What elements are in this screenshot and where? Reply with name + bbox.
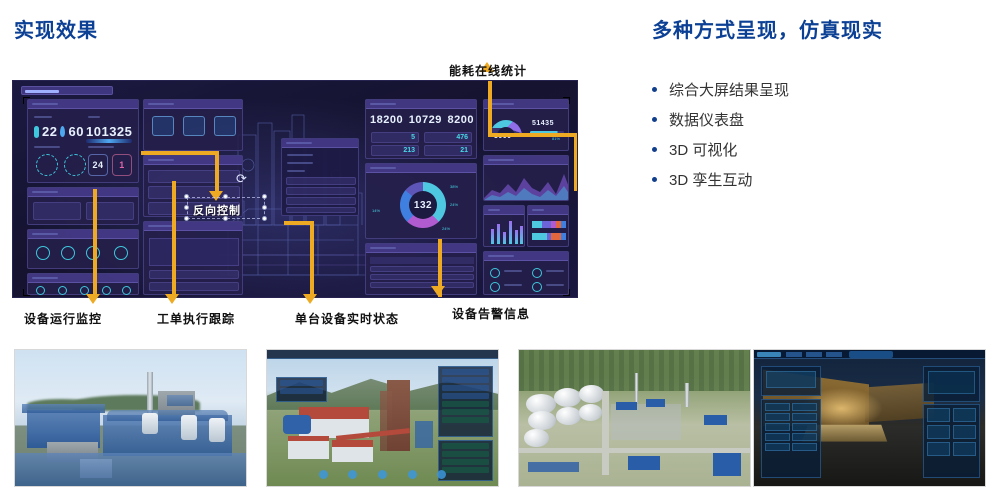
plant-tank — [209, 418, 225, 442]
annotation-line-realtime-h — [284, 221, 314, 225]
factory-equipment — [415, 421, 433, 448]
storage-tank — [524, 429, 549, 447]
hud-tooltip-left[interactable] — [276, 377, 327, 401]
gallery-image-3d-chemical-plant[interactable] — [14, 349, 247, 487]
toolbar-icon[interactable] — [378, 470, 387, 479]
device-icon[interactable] — [58, 286, 67, 295]
hud-cell[interactable] — [765, 403, 790, 411]
list-item[interactable] — [33, 202, 81, 220]
callout-workorder-tracking: 工单执行跟踪 — [157, 310, 235, 327]
panel-title-bar — [28, 100, 138, 109]
metric-offline: 1 — [112, 154, 132, 176]
process-unit — [528, 462, 579, 473]
list-item: 数据仪表盘 — [652, 104, 982, 134]
dashboard-header-title — [25, 90, 59, 93]
panel-title-bar — [28, 188, 138, 197]
hud-row[interactable] — [442, 385, 489, 391]
panel-title-bar — [144, 100, 242, 109]
kpi-card[interactable]: 213 — [371, 145, 419, 156]
corner-bracket — [23, 97, 30, 104]
annotation-arrow-alarm — [431, 286, 445, 296]
hud-topbar[interactable] — [267, 350, 498, 359]
preheater-tower — [380, 391, 392, 451]
toolbar-icon[interactable] — [437, 470, 446, 479]
table-row[interactable] — [286, 207, 356, 213]
panel-title-text — [488, 209, 500, 211]
device-icon[interactable] — [36, 246, 50, 260]
panel-title-text — [32, 277, 58, 279]
annotation-line-energy-v — [488, 80, 492, 137]
section-label — [88, 146, 114, 148]
site-road — [519, 448, 750, 453]
metric-label — [34, 116, 52, 118]
stat-card[interactable] — [152, 116, 174, 136]
device-icon[interactable] — [102, 286, 111, 295]
metric-label — [88, 116, 100, 118]
hud-logo[interactable] — [757, 352, 781, 357]
status-icon — [532, 268, 542, 278]
corner-bracket — [563, 289, 570, 296]
hud-title — [849, 351, 893, 358]
hud-panel-top-left[interactable] — [761, 366, 821, 396]
table-header — [370, 257, 474, 264]
bullet-icon — [652, 87, 657, 92]
gallery-image-3d-refinery-aerial[interactable] — [518, 349, 751, 487]
kpi-card[interactable]: 21 — [424, 145, 472, 156]
flare-stack — [635, 373, 638, 403]
hud-menu-item[interactable] — [826, 352, 842, 357]
donut-legend-item: 24% — [450, 202, 458, 207]
readout-value: 51435 — [532, 120, 554, 127]
office-roof — [288, 436, 330, 441]
status-label — [504, 270, 522, 272]
callout-single-device-status: 单台设备实时状态 — [295, 310, 399, 327]
stat-card[interactable] — [183, 116, 205, 136]
table-row[interactable] — [370, 266, 474, 272]
panel-title-bar — [28, 230, 138, 239]
feature-list: 综合大屏结果呈现 数据仪表盘 3D 可视化 3D 孪生互动 — [652, 74, 982, 194]
panel-title-text — [370, 247, 396, 249]
hud-cell[interactable] — [792, 443, 817, 451]
status-icon — [490, 268, 500, 278]
panel-title-bar — [144, 156, 242, 165]
refresh-icon[interactable]: ⟳ — [236, 171, 247, 187]
donut-legend-item: 14% — [372, 208, 380, 213]
bullet-icon — [652, 117, 657, 122]
toolbar-icon[interactable] — [348, 470, 357, 479]
site-road — [602, 391, 609, 475]
list-item-label: 数据仪表盘 — [669, 109, 744, 130]
camera-tile[interactable] — [953, 408, 976, 422]
field-row — [287, 170, 305, 172]
list-item: 3D 可视化 — [652, 134, 982, 164]
table-row[interactable] — [370, 282, 474, 288]
plant-tank — [142, 413, 158, 435]
camera-tile[interactable] — [927, 425, 950, 439]
hud-row[interactable] — [280, 380, 323, 386]
metric-temperature: 22 60 — [34, 124, 84, 139]
status-icon — [532, 282, 542, 292]
table-row[interactable] — [149, 282, 239, 291]
annotation-line-realtime — [310, 221, 314, 298]
list-item: 3D 孪生互动 — [652, 164, 982, 194]
panel-workorder-cards[interactable] — [143, 99, 243, 151]
panel-device-matrix[interactable] — [143, 221, 243, 295]
gauge-noise-icon — [64, 154, 86, 176]
hud-metric[interactable] — [442, 451, 489, 457]
hud-panel-minimap[interactable] — [923, 366, 981, 401]
callout-device-alarm: 设备告警信息 — [452, 305, 530, 322]
annotation-arrow-workorder — [165, 294, 179, 304]
annotation-line-workorder — [172, 181, 176, 298]
selection-handle[interactable] — [262, 205, 267, 210]
list-item: 综合大屏结果呈现 — [652, 74, 982, 104]
hud-topbar[interactable] — [754, 350, 985, 359]
panel-title-text — [286, 142, 312, 144]
kpi-row: 18200 10729 8200 — [370, 114, 474, 126]
device-icon[interactable] — [61, 246, 75, 260]
hud-row[interactable] — [442, 377, 489, 383]
metric-online: 24 — [88, 154, 108, 176]
stacked-bar — [532, 221, 566, 228]
camera-tile[interactable] — [953, 442, 976, 456]
panel-title-text — [148, 103, 174, 105]
hud-panel-right[interactable] — [438, 366, 493, 437]
selection-handle[interactable] — [184, 216, 189, 221]
status-label — [504, 284, 522, 286]
hud-cell[interactable] — [792, 433, 817, 441]
process-unit — [704, 415, 727, 425]
dashboard-screenshot: 22 60 101325 24 1 — [12, 80, 578, 298]
panel-environment[interactable]: 22 60 101325 24 1 — [27, 99, 139, 183]
panel-device-list-c[interactable] — [27, 273, 139, 295]
office-building — [332, 445, 374, 461]
annotation-line-energy-h — [488, 133, 578, 137]
panel-title-text — [32, 103, 58, 105]
kpi-total-energy: 10729 — [409, 114, 442, 126]
hud-cell[interactable] — [765, 413, 790, 421]
selection-handle[interactable] — [262, 216, 267, 221]
bullet-icon — [652, 177, 657, 182]
status-label — [546, 284, 564, 286]
list-item-label: 综合大屏结果呈现 — [669, 79, 789, 100]
table-row[interactable] — [148, 170, 240, 183]
panel-title-text — [370, 167, 396, 169]
status-icon — [490, 282, 500, 292]
table-row[interactable] — [286, 187, 356, 195]
gauge-dust-icon — [36, 154, 58, 176]
kpi-total-hours: 8200 — [448, 114, 474, 126]
process-unit — [713, 452, 741, 476]
metric-value: 60 — [68, 124, 83, 139]
camera-grid — [927, 408, 977, 456]
kpi-value: 21 — [460, 147, 468, 154]
panel-equipment-status-list[interactable] — [483, 251, 569, 295]
hud-row[interactable] — [442, 409, 489, 415]
hud-row[interactable] — [280, 388, 323, 394]
panel-title-text — [488, 255, 514, 257]
list-item-label: 3D 孪生互动 — [669, 169, 752, 190]
camera-tile[interactable] — [953, 425, 976, 439]
factory-equipment — [283, 415, 311, 434]
pressure-bar — [86, 139, 132, 143]
selection-handle[interactable] — [223, 194, 228, 199]
dashboard-header — [21, 86, 113, 95]
hud-cell[interactable] — [792, 413, 817, 421]
process-unit — [628, 456, 660, 470]
panel-title-text — [532, 209, 544, 211]
table-row[interactable] — [149, 270, 239, 279]
toolbar-icon[interactable] — [408, 470, 417, 479]
bullet-icon — [652, 147, 657, 152]
hud-cell[interactable] — [765, 423, 790, 431]
storage-tank — [556, 407, 581, 425]
kpi-value: 213 — [403, 147, 415, 154]
callout-energy-online: 能耗在线统计 — [449, 62, 527, 79]
donut-center: 132 — [400, 182, 446, 228]
inline-callout-label: 反向控制 — [193, 202, 241, 218]
panel-title-bar — [484, 100, 568, 109]
panel-title-bar — [28, 274, 138, 283]
office-roof — [332, 440, 374, 447]
camera-tile[interactable] — [927, 442, 950, 456]
kpi-value: 476 — [456, 134, 468, 141]
hud-panel-left-list[interactable] — [761, 399, 821, 478]
hud-row[interactable] — [442, 393, 489, 399]
hud-metric[interactable] — [442, 443, 489, 449]
plant-building — [167, 395, 192, 406]
status-label — [546, 270, 564, 272]
metric-value: 22 — [42, 124, 57, 139]
floating-device-card[interactable] — [281, 138, 359, 216]
panel-title-bar — [528, 206, 568, 215]
hud-cell[interactable] — [765, 443, 790, 451]
panel-title-bar — [484, 252, 568, 261]
page-title-right: 多种方式呈现，仿真现实 — [652, 14, 883, 43]
hud-metric[interactable] — [442, 459, 489, 465]
panel-category-energy-bars[interactable] — [527, 205, 569, 247]
floating-card-title — [282, 139, 358, 148]
bar-chart — [490, 220, 524, 244]
annotation-line-reverse-h — [141, 151, 219, 155]
list-item-label: 3D 可视化 — [669, 139, 737, 160]
hud-cell[interactable] — [792, 403, 817, 411]
donut-legend-item: 24% — [442, 226, 450, 231]
donut-legend-item: 38% — [450, 184, 458, 189]
toolbar-icon[interactable] — [319, 470, 328, 479]
hud-cell[interactable] — [792, 423, 817, 431]
slide-root: 实现效果 多种方式呈现，仿真现实 综合大屏结果呈现 数据仪表盘 3D 可视化 3… — [0, 0, 1000, 498]
office-building — [288, 440, 330, 459]
metric-value: 24 — [92, 160, 103, 170]
table-row[interactable] — [286, 177, 356, 185]
kpi-total-output: 18200 — [370, 114, 403, 126]
section-label — [34, 146, 60, 148]
callout-device-monitor: 设备运行监控 — [24, 310, 102, 327]
panel-title-text — [148, 159, 174, 161]
panel-title-bar — [484, 156, 568, 165]
field-row — [287, 162, 313, 164]
device-icon[interactable] — [36, 286, 45, 295]
flare-stack — [685, 383, 689, 407]
gallery-image-3d-cement-plant[interactable] — [266, 349, 499, 487]
hud-row[interactable] — [442, 369, 489, 375]
hud-menu-item[interactable] — [806, 352, 822, 357]
hud-row[interactable] — [442, 401, 489, 407]
plant-structure — [22, 404, 105, 412]
panel-energy-gauge[interactable]: 3000 51435 81% — [483, 99, 569, 151]
process-unit — [646, 399, 664, 407]
panel-title-bar — [366, 244, 476, 253]
panel-device-list-a[interactable] — [27, 187, 139, 225]
kpi-card[interactable]: 476 — [424, 132, 472, 143]
hud-cell[interactable] — [765, 433, 790, 441]
panel-title-bar — [144, 222, 242, 231]
panel-workorder-table[interactable] — [365, 243, 477, 295]
hud-grid — [765, 403, 817, 451]
annotation-line-reverse-v — [215, 151, 219, 193]
selection-handle[interactable] — [184, 194, 189, 199]
stacked-bar — [532, 233, 566, 240]
donut-center-value: 132 — [414, 200, 432, 211]
panel-device-energy-bars[interactable] — [483, 205, 525, 247]
field-row — [287, 154, 313, 156]
panel-title-text — [488, 159, 514, 161]
panel-title-text — [148, 225, 174, 227]
kpi-card[interactable]: 5 — [371, 132, 419, 143]
selection-handle[interactable] — [184, 205, 189, 210]
hud-row[interactable] — [442, 417, 489, 423]
kpi-value: 5 — [411, 134, 415, 141]
device-icon[interactable] — [114, 246, 128, 260]
hud-chart — [766, 371, 816, 388]
panel-title-text — [370, 103, 396, 105]
plant-foreground — [15, 453, 246, 486]
matrix-grid — [149, 238, 239, 266]
annotation-line-energy-v2 — [574, 133, 578, 191]
stat-card[interactable] — [214, 116, 236, 136]
selection-handle[interactable] — [223, 216, 228, 221]
panel-device-distribution[interactable]: 132 38% 24% 24% 14% — [365, 163, 477, 239]
process-unit — [616, 402, 637, 410]
gallery-image-3d-night-warehouse[interactable] — [753, 349, 986, 487]
hud-bottom-toolbar[interactable] — [309, 467, 457, 482]
minimap[interactable] — [928, 371, 976, 394]
thermometer-icon — [34, 126, 39, 138]
hud-menu-item[interactable] — [786, 352, 802, 357]
table-row[interactable] — [370, 274, 474, 280]
camera-tile[interactable] — [927, 408, 950, 422]
panel-energy-trend[interactable] — [483, 155, 569, 201]
storage-tank — [579, 404, 602, 420]
plant-tank — [181, 415, 197, 439]
panel-title-text — [32, 233, 58, 235]
corner-bracket — [563, 97, 570, 104]
panel-device-list-b[interactable] — [27, 229, 139, 269]
metric-value: 1 — [119, 160, 125, 170]
annotation-line-device-monitor — [93, 189, 97, 298]
panel-title-bar — [366, 164, 476, 173]
annotation-arrow-device-monitor — [86, 294, 100, 304]
metric-pressure-value: 101325 — [86, 124, 132, 139]
humidity-icon — [60, 126, 65, 137]
panel-title-text — [32, 191, 58, 193]
panel-production-overview[interactable]: 18200 10729 8200 5 476 213 21 — [365, 99, 477, 159]
page-title-left: 实现效果 — [14, 14, 98, 43]
corner-bracket — [23, 289, 30, 296]
hud-panel-camera-grid[interactable] — [923, 404, 981, 477]
selection-handle[interactable] — [262, 194, 267, 199]
table-row[interactable] — [286, 197, 356, 205]
area-chart — [484, 168, 569, 201]
panel-title-bar — [366, 100, 476, 109]
panel-title-bar — [484, 206, 524, 215]
device-icon[interactable] — [122, 286, 131, 295]
annotation-arrow-realtime — [303, 294, 317, 304]
